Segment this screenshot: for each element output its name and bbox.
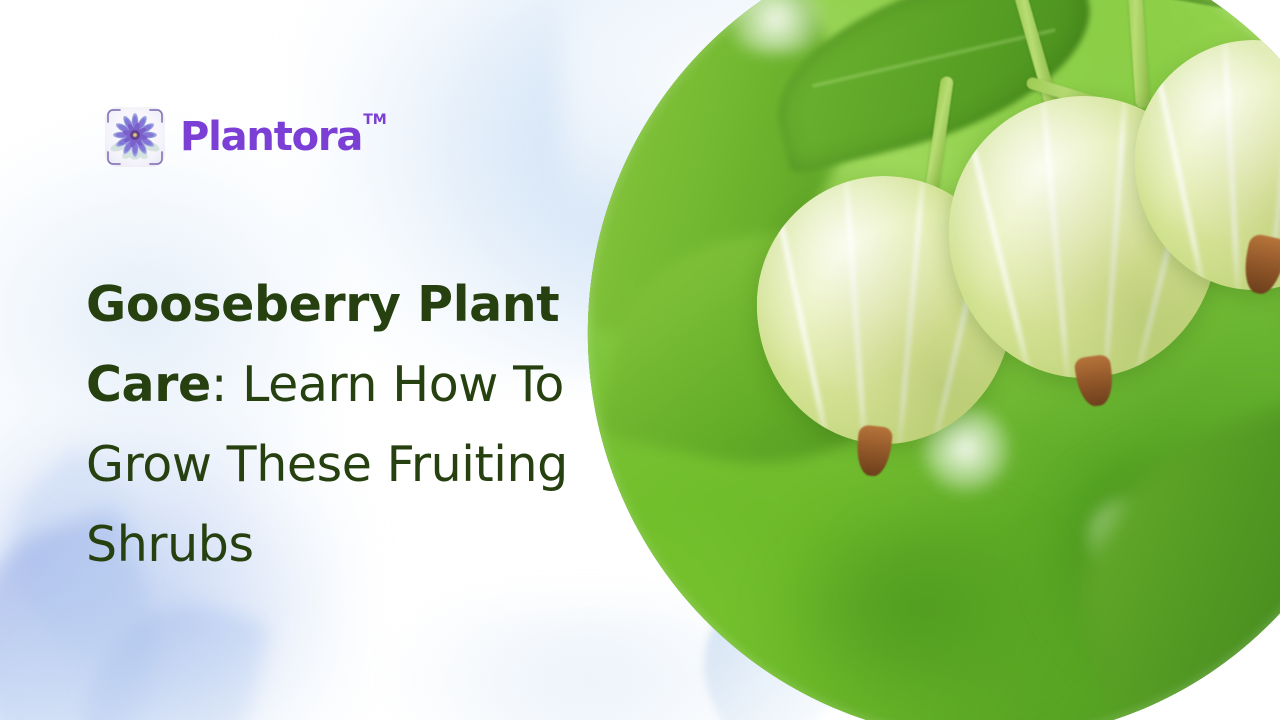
- bokeh-blob: [769, 498, 1069, 718]
- blue-petal-shape: [68, 584, 272, 720]
- page-title-separator: :: [211, 356, 242, 413]
- photo-content: [518, 0, 1280, 720]
- logo-wordmark-text: Plantora: [180, 114, 362, 160]
- logo-wordmark: PlantoraTM: [180, 117, 386, 157]
- slide-canvas: PlantoraTM Gooseberry Plant Care: Learn …: [0, 0, 1280, 720]
- lotus-flower-scan-icon: [104, 106, 166, 168]
- gooseberry-fruit-photo: [518, 0, 1280, 720]
- plantora-logo[interactable]: PlantoraTM: [104, 106, 386, 168]
- page-title: Gooseberry Plant Care: Learn How To Grow…: [86, 265, 606, 585]
- trademark-symbol: TM: [363, 112, 386, 128]
